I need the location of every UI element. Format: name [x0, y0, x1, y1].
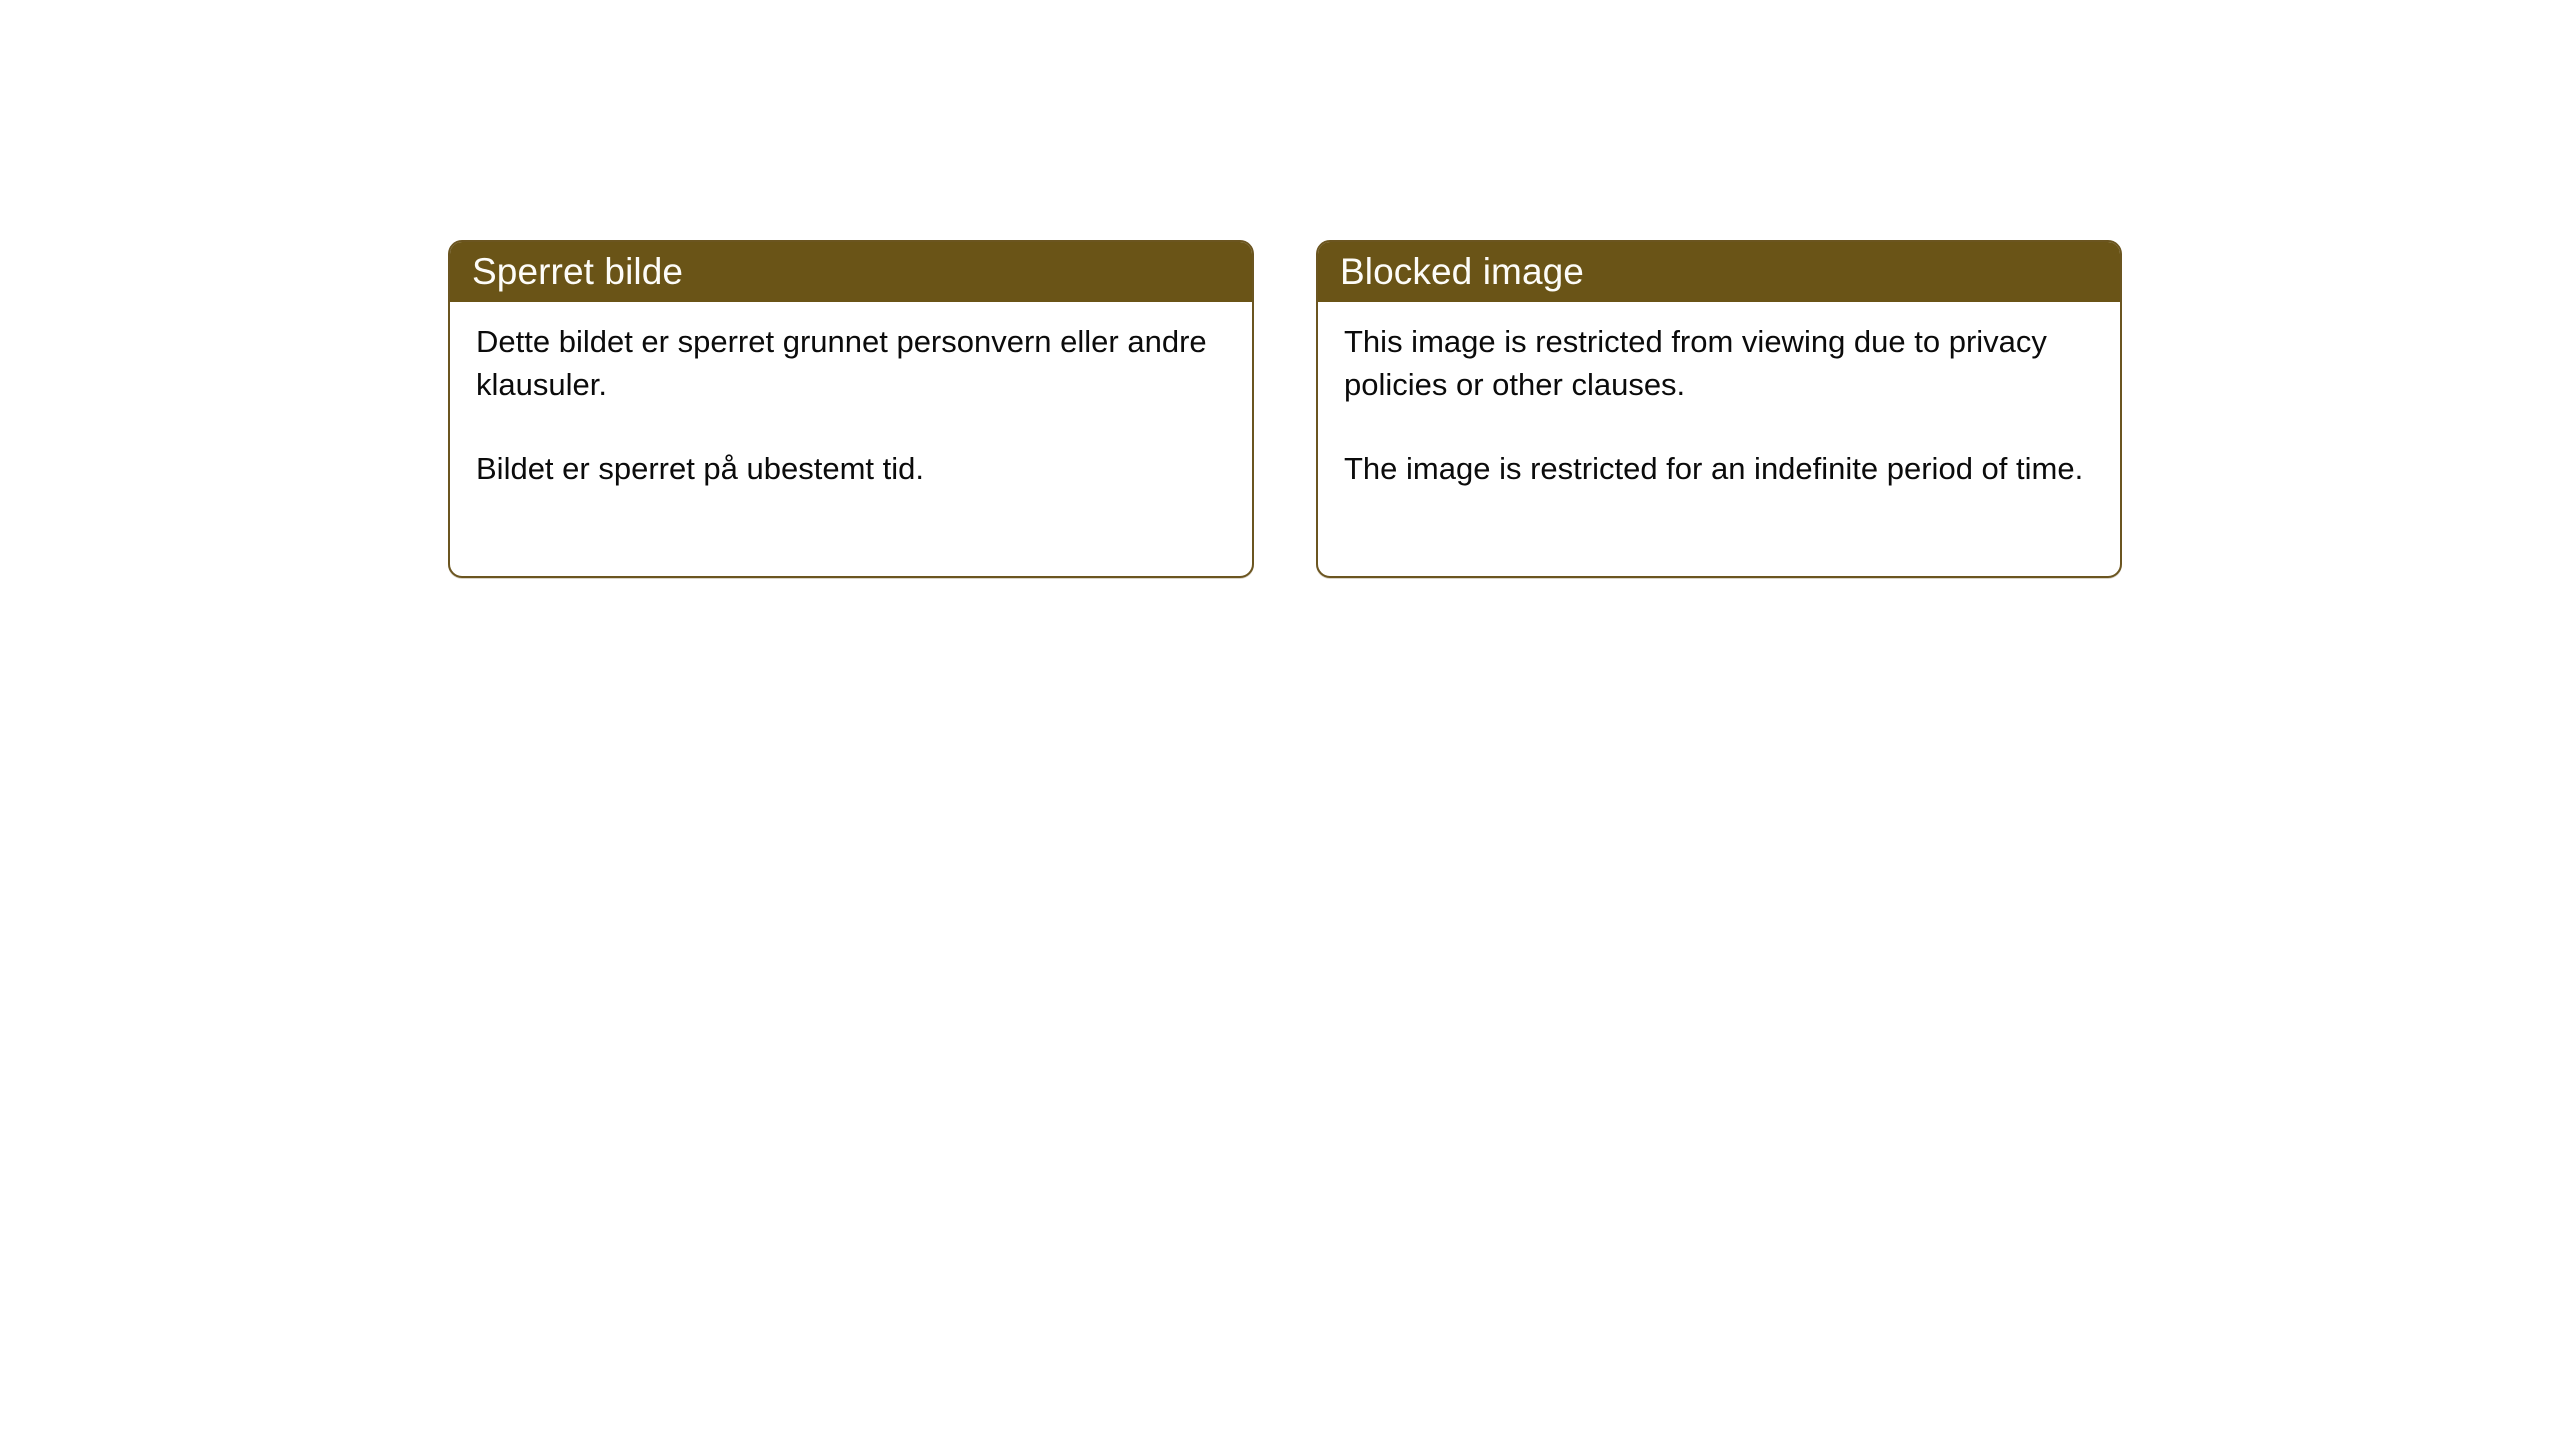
paragraph-spacer [476, 406, 1226, 447]
card-body-norwegian: Dette bildet er sperret grunnet personve… [450, 302, 1252, 490]
blocked-image-card-norwegian: Sperret bilde Dette bildet er sperret gr… [448, 240, 1254, 578]
blocked-image-card-english: Blocked image This image is restricted f… [1316, 240, 2122, 578]
card-title-english: Blocked image [1340, 253, 1584, 290]
card-header-english: Blocked image [1316, 240, 2122, 302]
card-paragraph-primary-norwegian: Dette bildet er sperret grunnet personve… [476, 320, 1216, 406]
card-header-norwegian: Sperret bilde [448, 240, 1254, 302]
card-paragraph-secondary-norwegian: Bildet er sperret på ubestemt tid. [476, 447, 1216, 490]
card-paragraph-primary-english: This image is restricted from viewing du… [1344, 320, 2084, 406]
card-title-norwegian: Sperret bilde [472, 253, 683, 290]
paragraph-spacer [1344, 406, 2094, 447]
page-root: Sperret bilde Dette bildet er sperret gr… [0, 0, 2560, 1440]
card-paragraph-secondary-english: The image is restricted for an indefinit… [1344, 447, 2084, 490]
card-body-english: This image is restricted from viewing du… [1318, 302, 2120, 490]
